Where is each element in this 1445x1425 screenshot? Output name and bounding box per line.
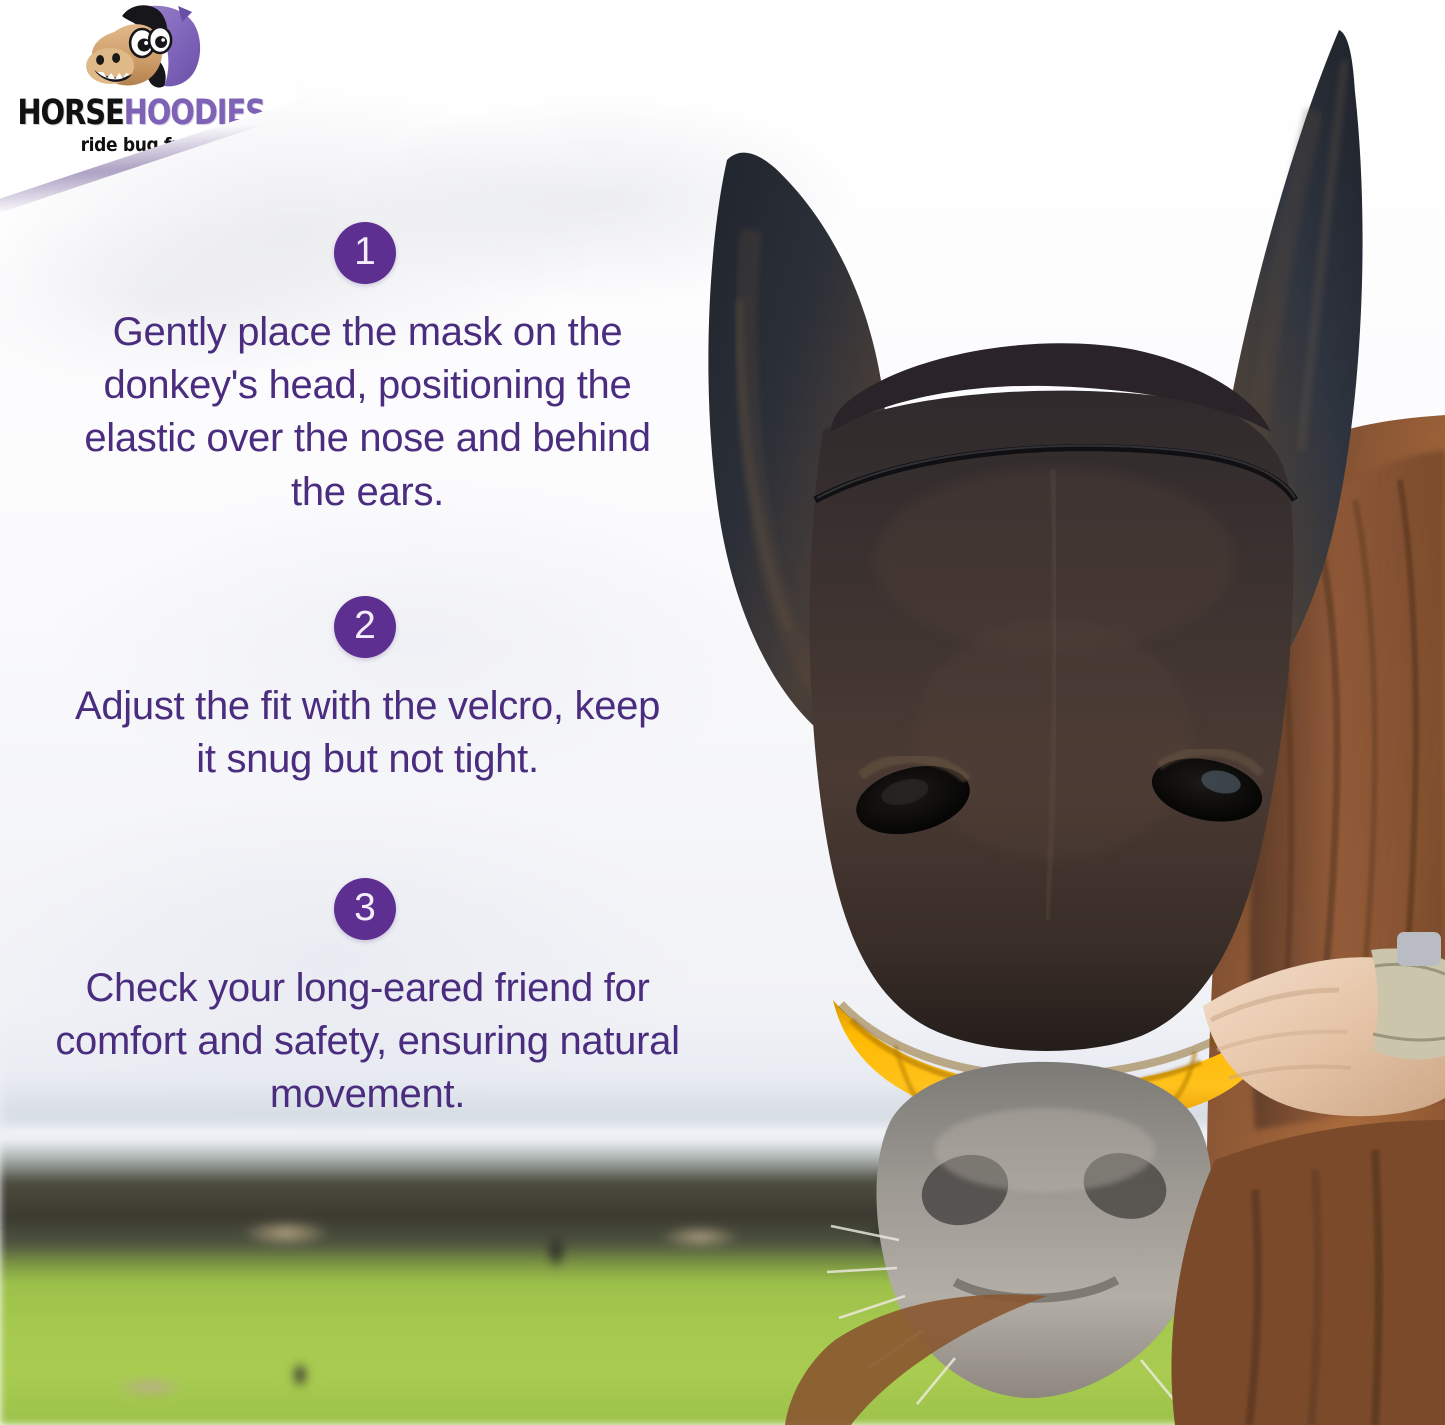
step-item-2: 2 Adjust the fit with the velcro, keep i… <box>0 596 735 786</box>
step-number-badge-3: 3 <box>334 878 396 940</box>
step-number-badge-2: 2 <box>334 596 396 658</box>
step-text-3: Check your long-eared friend for comfort… <box>0 962 735 1122</box>
watch-strap <box>1371 932 1445 1059</box>
step-item-1: 1 Gently place the mask on the donkey's … <box>0 222 735 519</box>
step-number-badge-1: 1 <box>334 222 396 284</box>
donkey-photo <box>655 0 1445 1425</box>
logo-word-horse: HORSE <box>17 93 123 133</box>
step-item-3: 3 Check your long-eared friend for comfo… <box>0 878 735 1122</box>
infographic-canvas: 1 Gently place the mask on the donkey's … <box>0 0 1445 1425</box>
step-text-2: Adjust the fit with the velcro, keep it … <box>0 680 735 786</box>
step-text-1: Gently place the mask on the donkey's he… <box>0 306 735 519</box>
